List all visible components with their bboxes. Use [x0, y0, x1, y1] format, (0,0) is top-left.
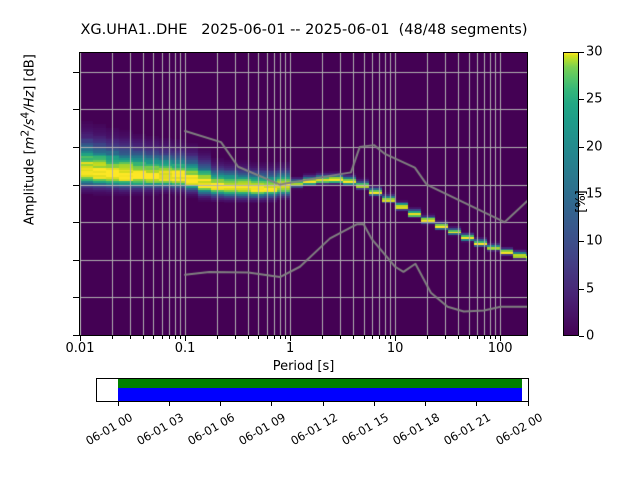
x-axis-minor-tick-mark [322, 336, 323, 339]
x-axis-minor-tick-mark [280, 336, 281, 339]
x-axis-minor-tick-mark [458, 336, 459, 339]
coverage-segment-upper [118, 379, 522, 388]
y-axis-tick-mark [73, 335, 79, 336]
colorbar-tick-mark [579, 99, 584, 100]
colorbar-tick-label: 25 [586, 92, 603, 107]
y-axis-tick-mark [73, 260, 79, 261]
timeline-tick-label: 06-01 15 [335, 410, 390, 450]
x-axis-minor-tick-mark [469, 336, 470, 339]
timeline-tick-mark [476, 402, 477, 406]
colorbar-tick-mark [579, 336, 584, 337]
x-axis-minor-tick-mark [169, 336, 170, 339]
timeline-tick-mark [220, 402, 221, 406]
x-axis-minor-tick-mark [112, 336, 113, 339]
x-axis-minor-tick-mark [445, 336, 446, 339]
x-axis-minor-tick-mark [379, 336, 380, 339]
colorbar-label: [%] [574, 190, 589, 213]
x-axis-minor-tick-mark [248, 336, 249, 339]
timeline-tick-label: 06-01 06 [182, 410, 237, 450]
coverage-segment-lower [118, 388, 522, 401]
x-axis-minor-tick-mark [340, 336, 341, 339]
y-axis-tick-mark [73, 72, 79, 73]
y-axis-tick-mark [73, 147, 79, 148]
colorbar-tick-label: 0 [586, 329, 594, 344]
timeline-tick-mark [118, 402, 119, 406]
ppsd-figure: XG.UHA1..DHE 2025-06-01 -- 2025-06-01 (4… [0, 0, 640, 480]
x-axis-minor-tick-mark [258, 336, 259, 339]
x-axis-tick-label: 0.01 [40, 341, 120, 356]
x-axis-minor-tick-mark [175, 336, 176, 339]
x-axis-minor-tick-mark [484, 336, 485, 339]
x-axis-minor-tick-mark [217, 336, 218, 339]
x-axis-minor-tick-mark [353, 336, 354, 339]
x-axis-tick-mark [185, 336, 186, 341]
x-axis-minor-tick-mark [427, 336, 428, 339]
x-axis-tick-mark [500, 336, 501, 341]
x-axis-minor-tick-mark [385, 336, 386, 339]
timeline-tick-mark [528, 402, 529, 406]
x-axis-minor-tick-mark [364, 336, 365, 339]
x-axis-label: Period [s] [79, 359, 528, 374]
timeline-tick-label: 06-02 00 [489, 410, 544, 450]
x-axis-minor-tick-mark [372, 336, 373, 339]
x-axis-minor-tick-mark [153, 336, 154, 339]
x-axis-tick-label: 10 [355, 341, 435, 356]
x-axis-tick-label: 100 [460, 341, 540, 356]
y-axis-tick-mark [73, 185, 79, 186]
x-axis-minor-tick-mark [162, 336, 163, 339]
x-axis-tick-label: 0.1 [145, 341, 225, 356]
x-axis-tick-mark [395, 336, 396, 341]
x-axis-minor-tick-mark [490, 336, 491, 339]
x-axis-minor-tick-mark [495, 336, 496, 339]
timeline-tick-label: 06-01 00 [79, 410, 134, 450]
noise-model-curves [80, 53, 527, 335]
y-axis-tick-mark [73, 109, 79, 110]
x-axis-minor-tick-mark [143, 336, 144, 339]
timeline-tick-label: 06-01 21 [438, 410, 493, 450]
data-coverage-bar[interactable] [96, 378, 529, 402]
timeline-tick-mark [169, 402, 170, 406]
timeline-tick-mark [323, 402, 324, 406]
x-axis-minor-tick-mark [274, 336, 275, 339]
colorbar-tick-mark [579, 147, 584, 148]
x-axis-minor-tick-mark [235, 336, 236, 339]
x-axis-tick-label: 1 [250, 341, 330, 356]
timeline-tick-label: 06-01 12 [284, 410, 339, 450]
y-axis-tick-mark [73, 297, 79, 298]
ppsd-plot-area[interactable] [79, 52, 528, 336]
colorbar-tick-label: 5 [586, 281, 594, 296]
colorbar-tick-mark [579, 289, 584, 290]
x-axis-minor-tick-mark [285, 336, 286, 339]
timeline-tick-mark [271, 402, 272, 406]
x-axis-minor-tick-mark [180, 336, 181, 339]
timeline-tick-mark [374, 402, 375, 406]
colorbar-tick-label: 10 [586, 234, 603, 249]
timeline-tick-label: 06-01 03 [130, 410, 185, 450]
x-axis-minor-tick-mark [477, 336, 478, 339]
colorbar-tick-label: 30 [586, 45, 603, 60]
timeline-tick-label: 06-01 09 [233, 410, 288, 450]
y-axis-tick-mark [73, 222, 79, 223]
x-axis-minor-tick-mark [390, 336, 391, 339]
x-axis-minor-tick-mark [267, 336, 268, 339]
x-axis-tick-mark [290, 336, 291, 341]
colorbar-tick-label: 20 [586, 139, 603, 154]
colorbar-tick-mark [579, 52, 584, 53]
x-axis-tick-mark [80, 336, 81, 341]
page-title: XG.UHA1..DHE 2025-06-01 -- 2025-06-01 (4… [0, 22, 608, 38]
x-axis-minor-tick-mark [130, 336, 131, 339]
timeline-tick-mark [425, 402, 426, 406]
colorbar-tick-mark [579, 241, 584, 242]
y-axis-label: Amplitude [m2/s4/Hz] [dB] [18, 0, 37, 290]
timeline-tick-label: 06-01 18 [387, 410, 442, 450]
